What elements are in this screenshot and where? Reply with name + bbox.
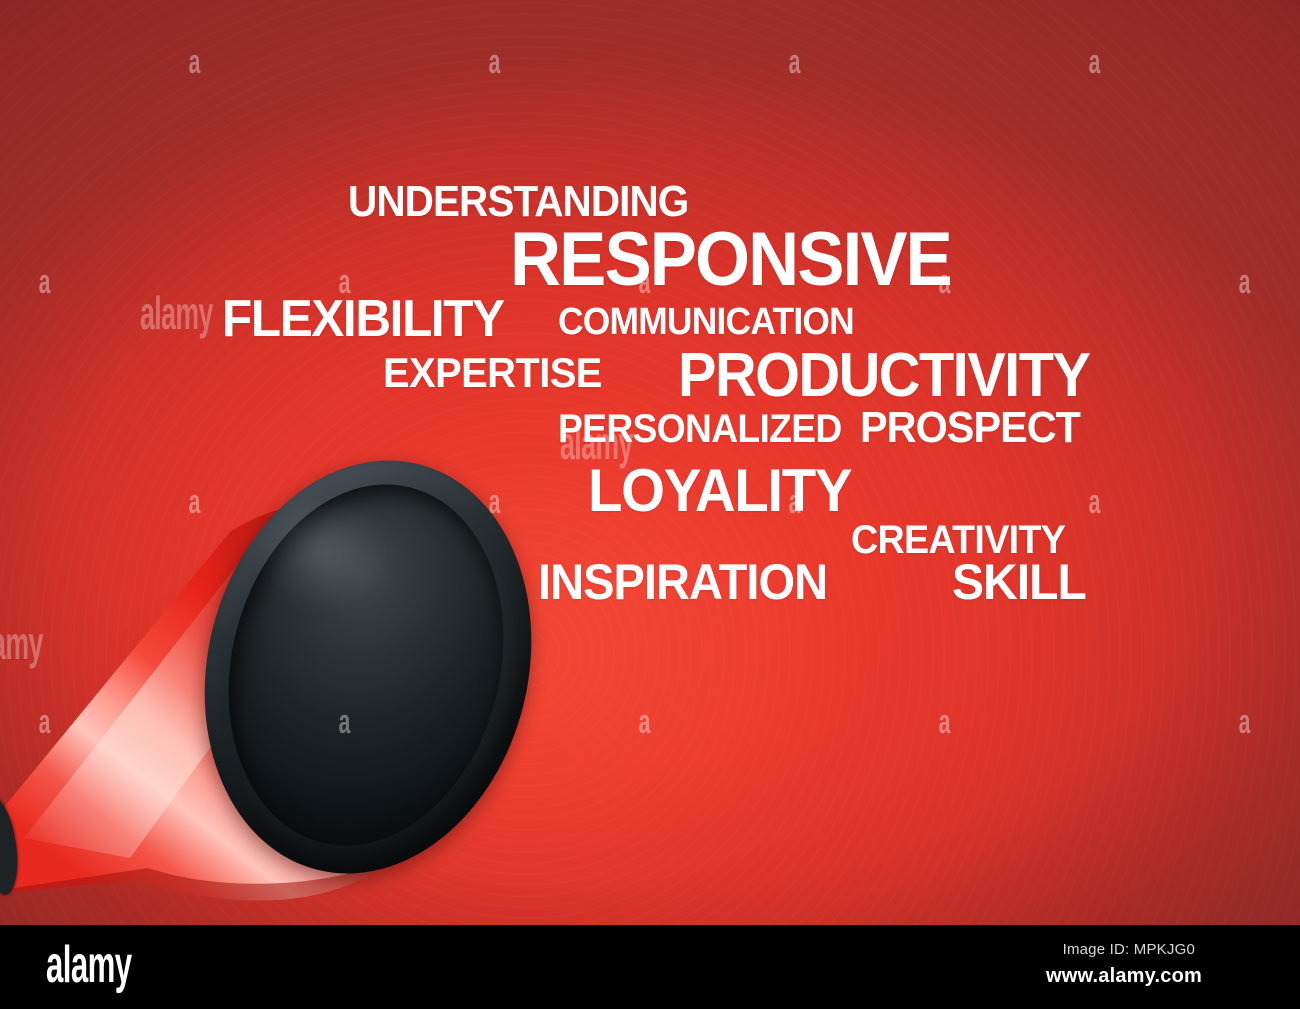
image-id-text: Image ID: MPKJG0 <box>1063 941 1195 958</box>
word-loyality: LOYALITY <box>588 461 851 521</box>
footer-bar: alamy Image ID: MPKJG0 www.alamy.com <box>0 925 1300 1009</box>
word-responsive: RESPONSIVE <box>510 222 951 298</box>
word-communication: COMMUNICATION <box>558 303 854 341</box>
word-personalized: PERSONALIZED <box>558 409 842 449</box>
word-skill: SKILL <box>952 557 1086 607</box>
word-expertise: EXPERTISE <box>383 352 602 394</box>
word-cloud: UNDERSTANDING RESPONSIVE FLEXIBILITY COM… <box>0 0 1300 925</box>
word-productivity: PRODUCTIVITY <box>678 345 1089 407</box>
word-flexibility: FLEXIBILITY <box>222 293 504 345</box>
alamy-logo: alamy <box>46 939 131 991</box>
word-inspiration: INSPIRATION <box>538 557 827 607</box>
word-prospect: PROSPECT <box>860 406 1080 450</box>
screenshot-root: UNDERSTANDING RESPONSIVE FLEXIBILITY COM… <box>0 0 1300 1009</box>
artwork-canvas: UNDERSTANDING RESPONSIVE FLEXIBILITY COM… <box>0 0 1300 925</box>
website-text: www.alamy.com <box>1046 965 1202 988</box>
